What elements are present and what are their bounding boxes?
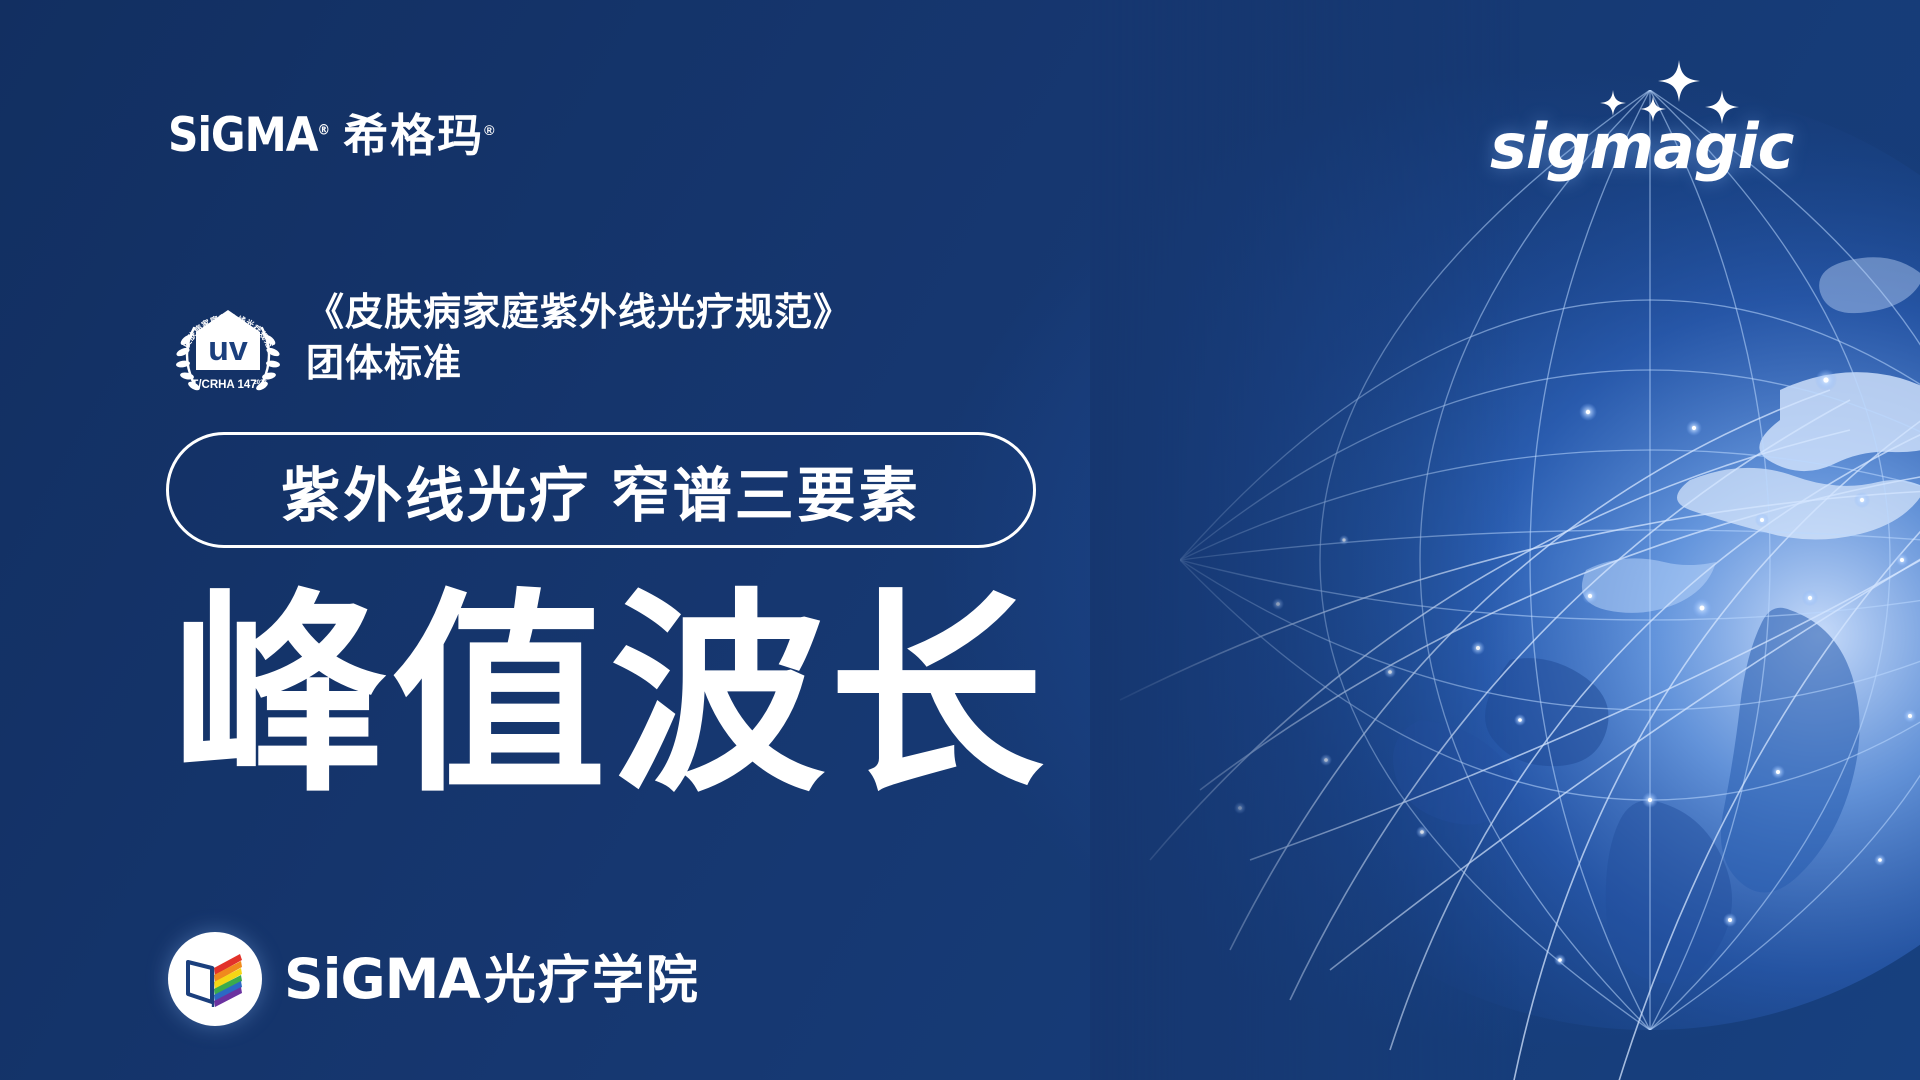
subtitle-pill-label: 紫外线光疗 窄谱三要素 [281,448,920,533]
standard-title: 《皮肤病家庭紫外线光疗规范》 团体标准 [306,282,852,390]
standard-title-line1: 《皮肤病家庭紫外线光疗规范》 [306,288,852,339]
subtitle-pill: 紫外线光疗 窄谱三要素 [166,432,1036,548]
seal-code: T/CRHA 147 [191,379,256,391]
brand-logo-sigma-top: SiGMA® 希格玛® [168,104,496,166]
slide-root: SiGMA® 希格玛® sigmagic [0,0,1920,1080]
brand-logo-sigmagic: sigmagic [1490,60,1820,178]
seal-year: 2023 [253,380,267,386]
academy-name-cn: 光疗学院 [484,955,700,1007]
standard-title-line2: 团体标准 [306,339,852,390]
sigma-name-cn: 希格玛® [343,113,496,158]
registered-icon: ® [317,122,329,138]
open-book-rainbow-icon [184,950,246,1008]
uv-standard-seal-icon: 皮肤病家庭紫外线光疗规范 uv T/CRHA 147 2023 [168,284,288,402]
sigmagic-wordmark: sigmagic [1490,116,1793,178]
standard-block: 皮肤病家庭紫外线光疗规范 uv T/CRHA 147 2023 《皮肤病家庭紫外… [168,282,852,402]
academy-book-badge [168,932,262,1026]
academy-wordmark: SiGMA 光疗学院 [284,952,700,1007]
page-title: 峰值波长 [172,588,1048,803]
seal-uv-label: uv [208,330,248,368]
registered-icon-2: ® [484,122,496,138]
academy-sigma-mark: SiGMA [284,952,480,1007]
sigma-wordmark: SiGMA® [168,112,329,159]
brand-logo-academy: SiGMA 光疗学院 [168,932,700,1026]
